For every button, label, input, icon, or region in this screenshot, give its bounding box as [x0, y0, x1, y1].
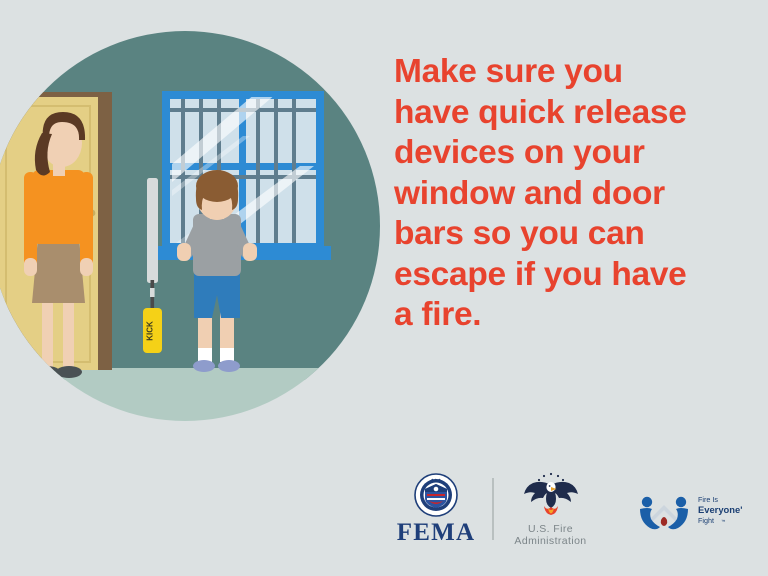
- fief-figure-right-head: [675, 496, 685, 506]
- headline-line-6: escape if you have: [394, 255, 734, 296]
- boy-sock-right: [220, 348, 234, 362]
- floor: [0, 368, 390, 430]
- headline-line-1: Make sure you: [394, 52, 734, 93]
- release-tag-label: KICK: [146, 321, 155, 341]
- boy-hand-left: [177, 243, 191, 261]
- release-cable-clip: [150, 288, 155, 297]
- woman-hand-left: [24, 258, 37, 276]
- logo-divider: [492, 478, 494, 540]
- release-rod: [147, 178, 158, 283]
- illustration-scene: KICK: [0, 0, 390, 430]
- dhs-seal-icon: ★ ★ ★: [414, 473, 458, 517]
- logo-strip: ★ ★ ★ FEMA: [388, 466, 760, 552]
- boy-sock-left: [198, 348, 212, 362]
- woman-shoe-right: [56, 366, 82, 378]
- woman-arm-right: [80, 172, 93, 268]
- boy-hair-top: [196, 170, 238, 202]
- fief-figure-left-head: [641, 496, 651, 506]
- fief-text-line3: Fight: [698, 516, 714, 525]
- headline-line-2: have quick release: [394, 93, 734, 134]
- headline: Make sure you have quick release devices…: [394, 52, 734, 336]
- woman-arm-left: [24, 172, 37, 268]
- fema-wordmark: FEMA: [397, 520, 475, 545]
- usfa-eagle-icon: [520, 471, 582, 519]
- usfa-logo[interactable]: U.S. Fire Administration: [502, 471, 600, 548]
- woman-leg-right: [63, 297, 74, 374]
- fief-emblem-icon: Fire Is Everyone's Fight ™: [630, 483, 742, 531]
- fief-trademark: ™: [721, 519, 726, 524]
- headline-line-7: a fire.: [394, 295, 734, 336]
- svg-text:★ ★ ★: ★ ★ ★: [431, 478, 441, 482]
- woman-skirt: [32, 238, 85, 303]
- headline-line-3: devices on your: [394, 133, 734, 174]
- fema-logo[interactable]: ★ ★ ★ FEMA: [388, 473, 484, 545]
- fief-text-line1: Fire Is: [698, 495, 718, 504]
- headline-line-4: window and door: [394, 174, 734, 215]
- fief-text-line2: Everyone's: [698, 504, 742, 515]
- boy-hand-right: [243, 243, 257, 261]
- boy-shirt: [193, 214, 241, 276]
- headline-line-5: bars so you can: [394, 214, 734, 255]
- usfa-wordmark-line1: U.S. Fire: [514, 523, 586, 536]
- woman-shirt: [32, 170, 85, 244]
- usfa-wordmark-line2: Administration: [514, 535, 586, 548]
- boy-shoe-left: [193, 360, 215, 372]
- woman-hand-right: [80, 258, 93, 276]
- woman-leg-left: [42, 297, 53, 374]
- illustration-svg: KICK: [0, 0, 390, 430]
- fire-is-everyones-fight-logo[interactable]: Fire Is Everyone's Fight ™: [630, 483, 742, 536]
- boy-shoe-right: [218, 360, 240, 372]
- illustration-panel: KICK: [0, 0, 390, 430]
- usfa-wordmark: U.S. Fire Administration: [514, 523, 586, 548]
